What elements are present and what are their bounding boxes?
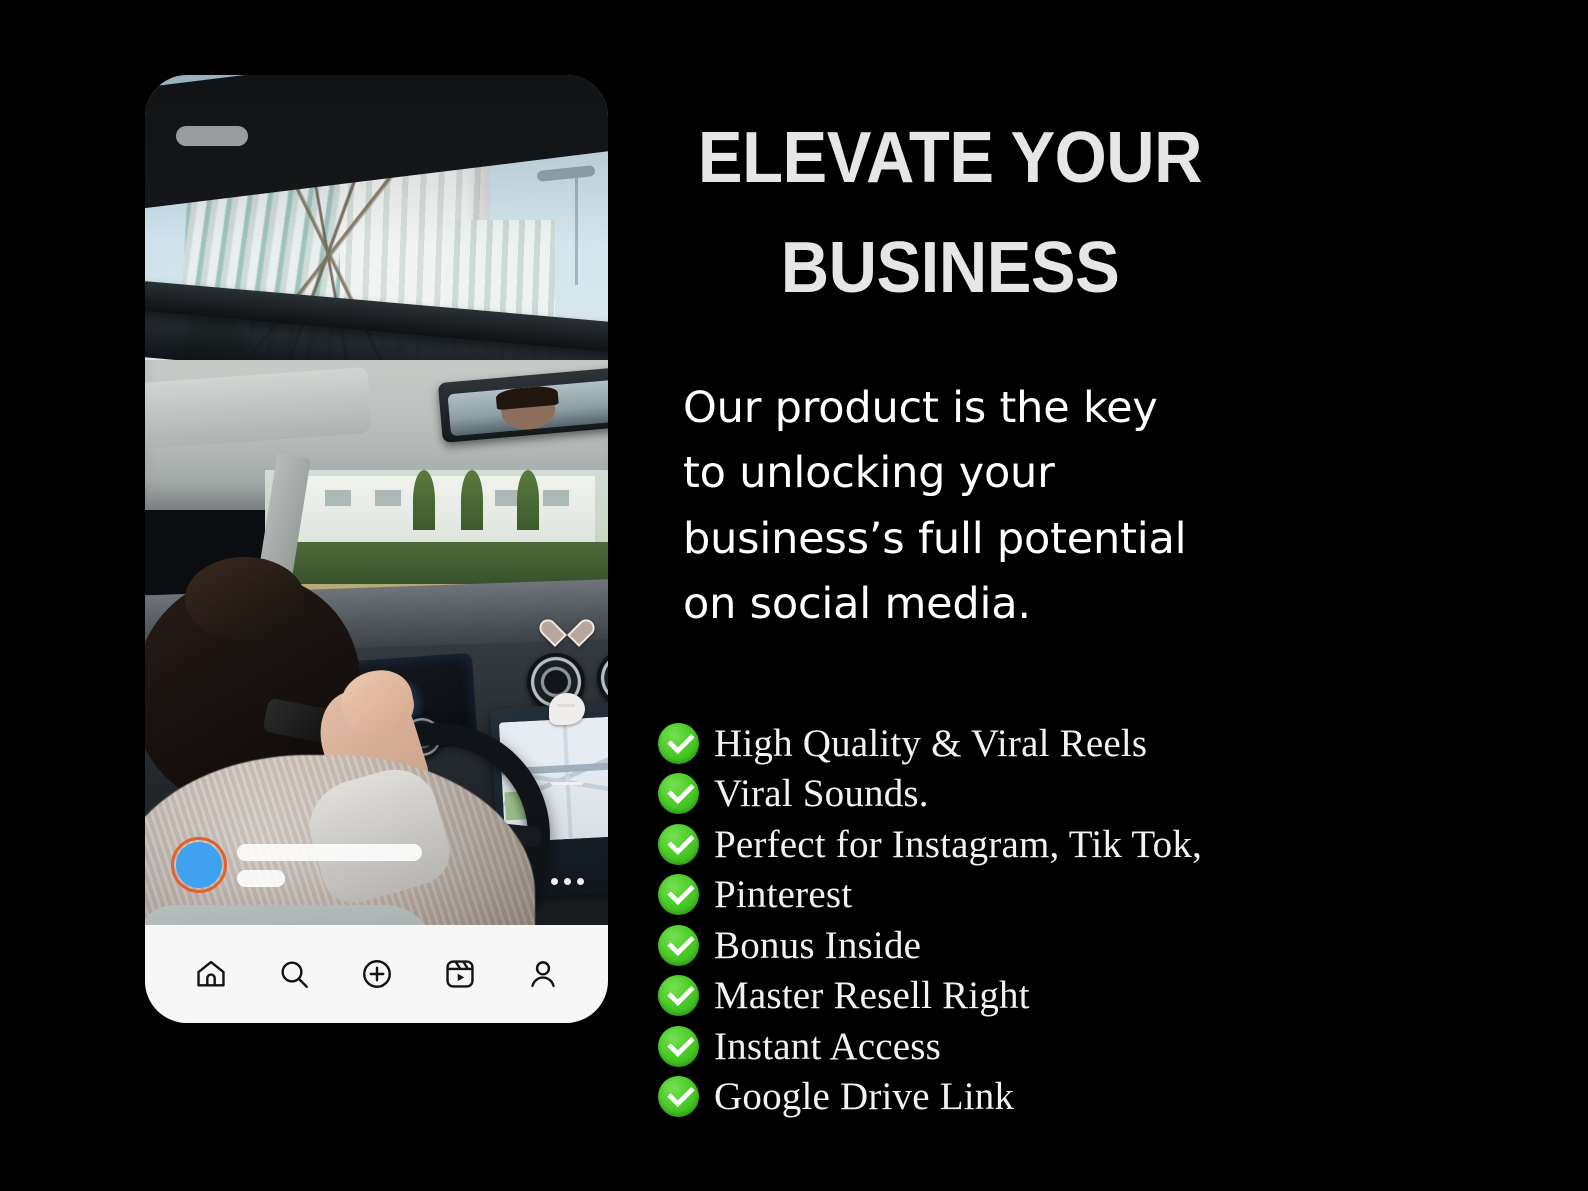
list-item: Master Resell Right bbox=[658, 971, 1298, 1022]
feature-checklist: High Quality & Viral Reels Viral Sounds.… bbox=[658, 718, 1298, 1122]
green-check-icon bbox=[658, 824, 699, 865]
slide-canvas: ELEVATE YOUR BUSINESS Our product is the… bbox=[0, 0, 1588, 1191]
green-check-icon bbox=[658, 975, 699, 1016]
reels-icon[interactable] bbox=[440, 954, 480, 994]
page-title: ELEVATE YOUR BUSINESS bbox=[662, 104, 1239, 323]
street-lamp-head bbox=[537, 165, 596, 182]
list-item: Viral Sounds. bbox=[658, 769, 1298, 820]
green-check-icon bbox=[658, 773, 699, 814]
comment-bubble-icon bbox=[549, 693, 585, 725]
list-item-label: Instant Access bbox=[714, 1027, 941, 1066]
comment-button[interactable] bbox=[547, 689, 587, 729]
list-item-label: Google Drive Link bbox=[714, 1077, 1014, 1116]
green-check-icon bbox=[658, 1026, 699, 1067]
home-icon[interactable] bbox=[191, 954, 231, 994]
heart-icon bbox=[550, 608, 584, 638]
share-button[interactable] bbox=[547, 775, 587, 815]
street-window bbox=[375, 490, 401, 506]
avatar-story-ring[interactable] bbox=[171, 837, 227, 893]
street-building bbox=[295, 476, 595, 546]
description-paragraph: Our product is the key to unlocking your… bbox=[683, 376, 1213, 637]
share-paper-plane-icon bbox=[550, 782, 584, 808]
driver-hair-bun bbox=[185, 557, 305, 641]
caption-bar-short bbox=[237, 870, 285, 887]
palm-tree bbox=[413, 470, 435, 530]
green-check-icon bbox=[658, 925, 699, 966]
list-item: Bonus Inside bbox=[658, 920, 1298, 971]
list-item: Perfect for Instagram, Tik Tok, bbox=[658, 819, 1298, 870]
content-column: ELEVATE YOUR BUSINESS Our product is the… bbox=[640, 0, 1588, 1191]
list-item-label: Master Resell Right bbox=[714, 976, 1030, 1015]
green-check-icon bbox=[658, 874, 699, 915]
profile-icon[interactable] bbox=[523, 954, 563, 994]
street-window bbox=[543, 490, 569, 506]
phone-screen bbox=[145, 75, 608, 1023]
phone-speaker-pill bbox=[176, 126, 248, 146]
list-item-label: Bonus Inside bbox=[714, 926, 921, 965]
palm-tree bbox=[517, 470, 539, 530]
palm-tree bbox=[461, 470, 483, 530]
street-lamp-post bbox=[575, 175, 578, 285]
list-item: Instant Access bbox=[658, 1021, 1298, 1072]
list-item: Google Drive Link bbox=[658, 1072, 1298, 1123]
avatar bbox=[176, 842, 222, 888]
phone-mockup bbox=[145, 75, 608, 1023]
instagram-bottom-nav bbox=[145, 925, 608, 1023]
more-options-button[interactable] bbox=[547, 861, 587, 901]
list-item-label: Viral Sounds. bbox=[714, 774, 929, 813]
list-item-label: Pinterest bbox=[714, 875, 852, 914]
list-item-label: High Quality & Viral Reels bbox=[714, 724, 1147, 763]
like-button[interactable] bbox=[547, 603, 587, 643]
more-options-icon bbox=[551, 878, 584, 885]
reel-meta bbox=[171, 837, 422, 893]
caption-placeholder-bars bbox=[237, 844, 422, 887]
list-item: Pinterest bbox=[658, 870, 1298, 921]
search-icon[interactable] bbox=[274, 954, 314, 994]
green-check-icon bbox=[658, 723, 699, 764]
street-window bbox=[325, 490, 351, 506]
caption-bar-long bbox=[237, 844, 422, 861]
green-check-icon bbox=[658, 1076, 699, 1117]
list-item: High Quality & Viral Reels bbox=[658, 718, 1298, 769]
list-item-label: Perfect for Instagram, Tik Tok, bbox=[714, 825, 1202, 864]
plus-circle-icon[interactable] bbox=[357, 954, 397, 994]
